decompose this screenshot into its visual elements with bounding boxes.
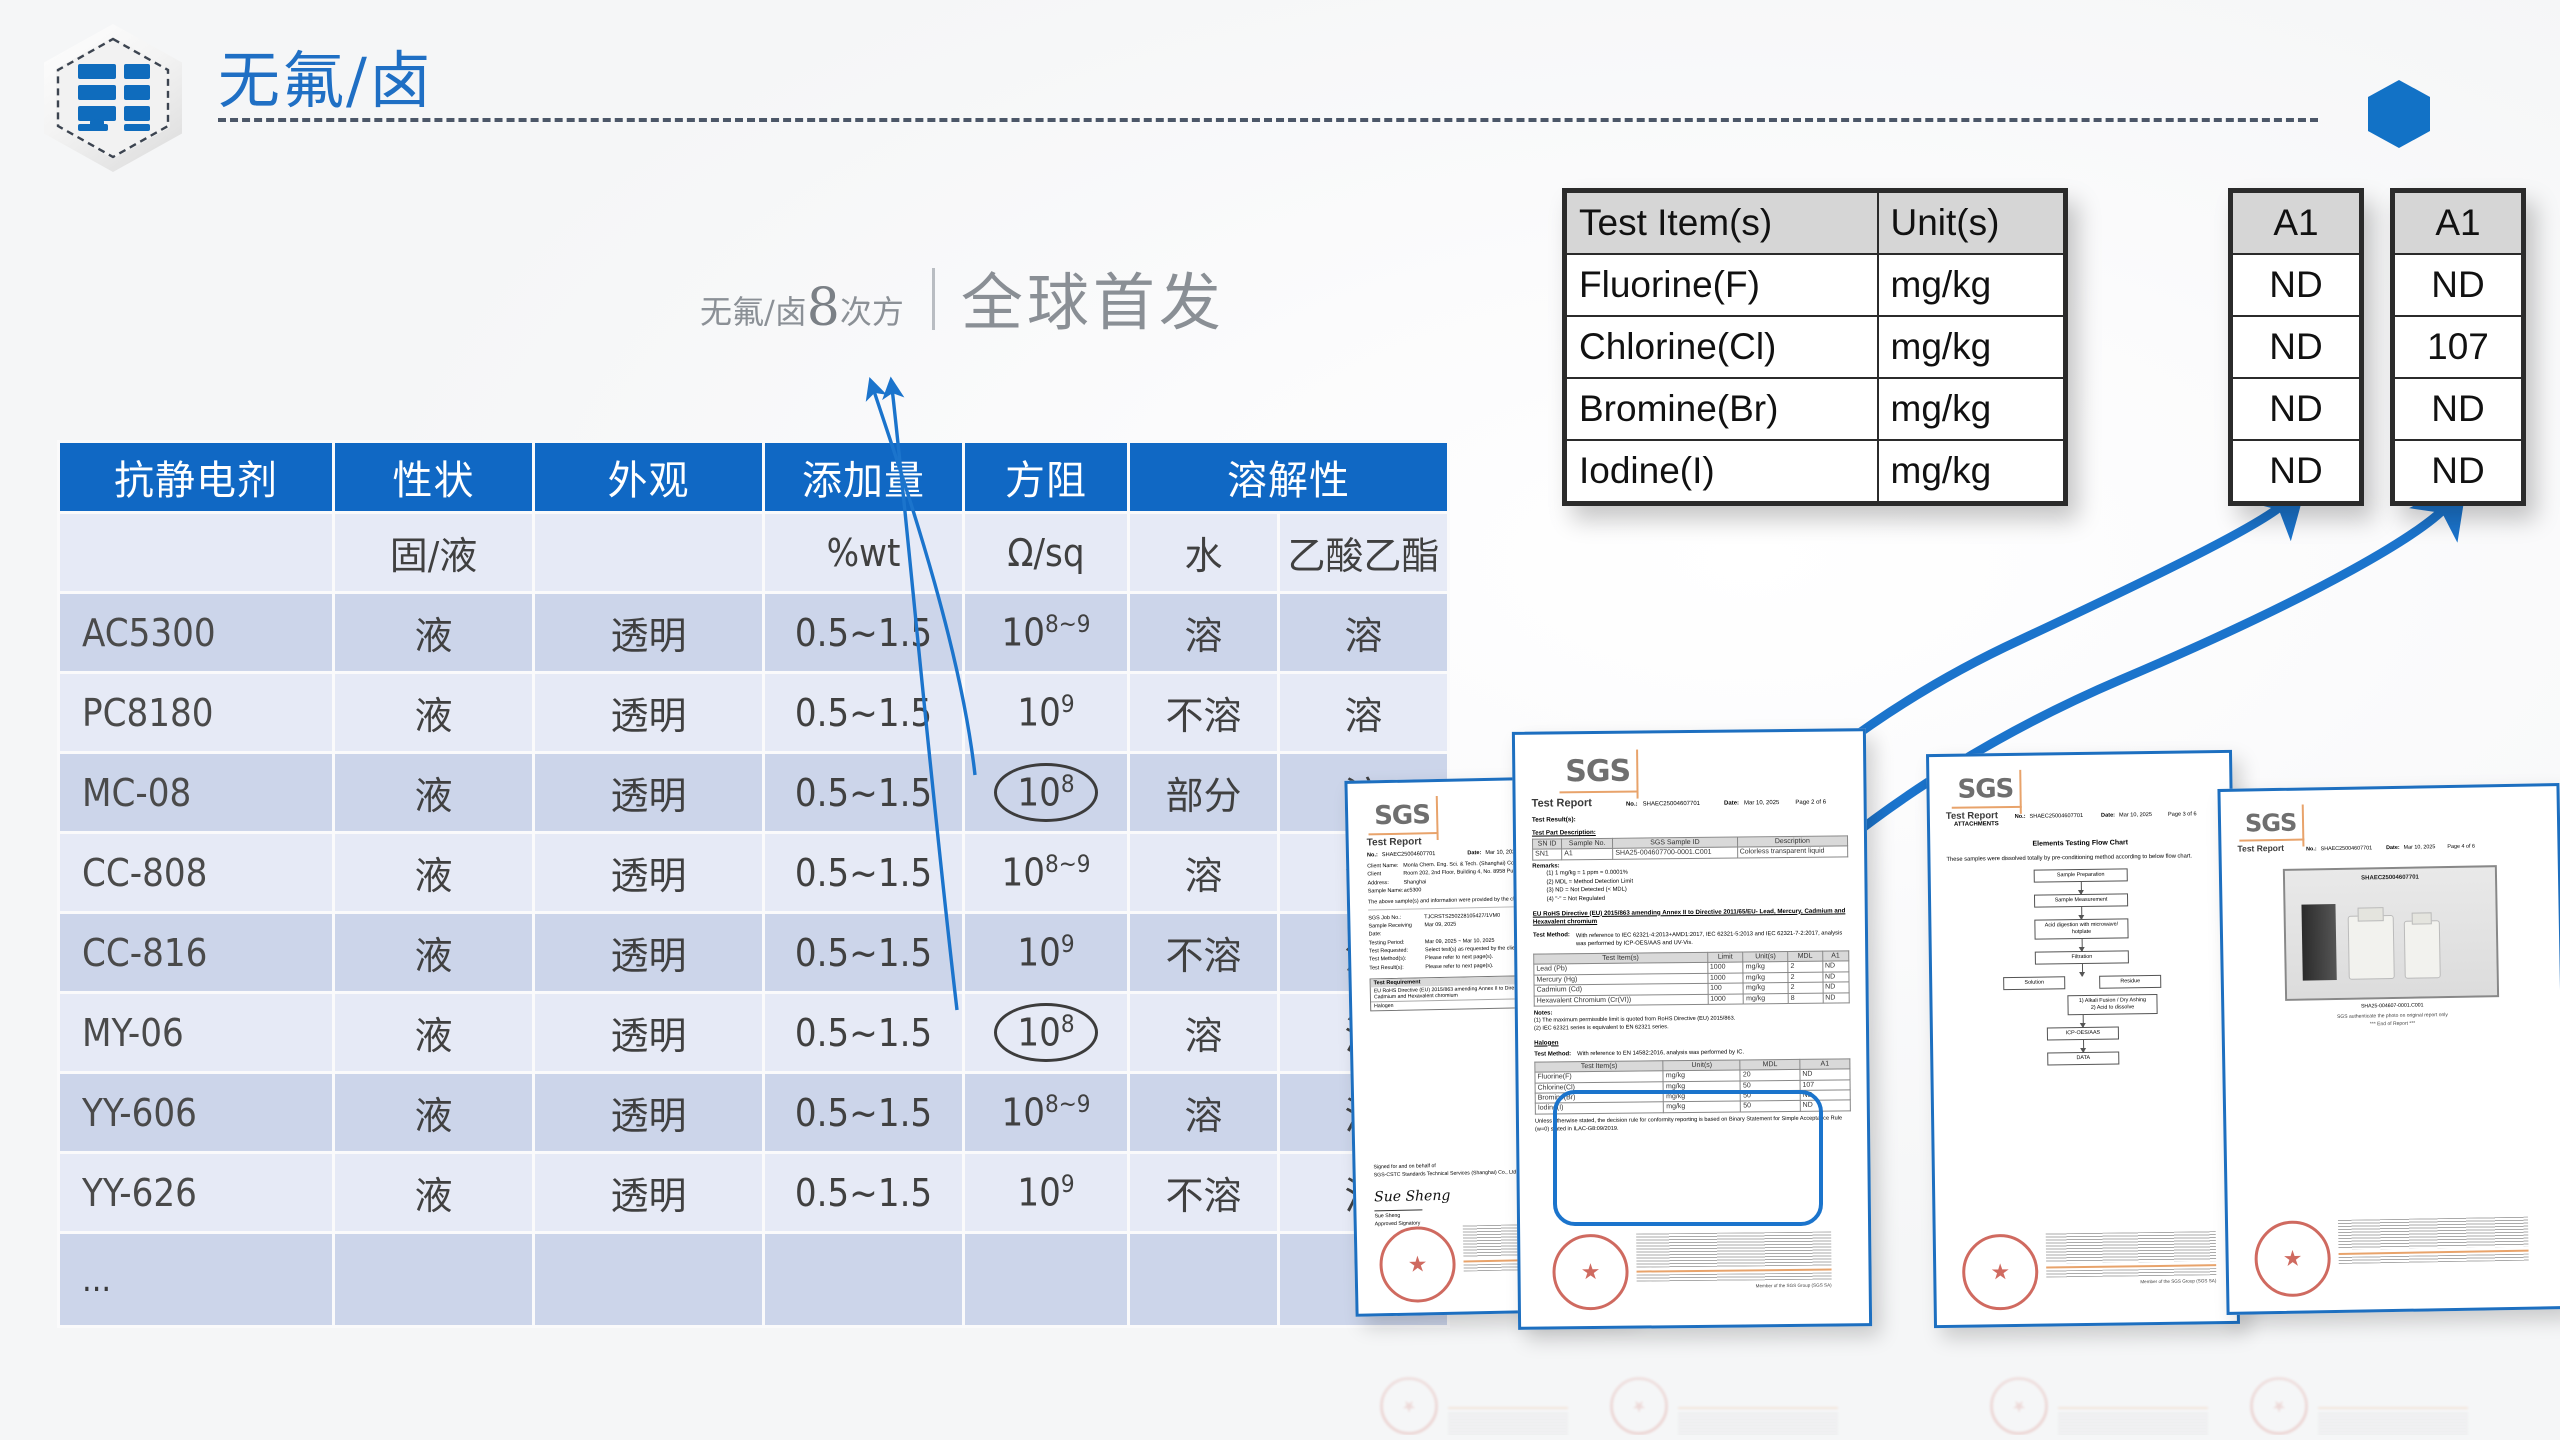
doc-field-value: ac5300 [1404,886,1422,895]
cell-resistance: 109 [964,1153,1129,1233]
cell-agent: MY-06 [59,993,334,1073]
flow-node: DATA [2047,1052,2119,1066]
flow-arrow-icon [2083,1040,2084,1052]
cell-water: 不溶 [1129,913,1279,993]
cell-ellipsis: ... [59,1233,334,1327]
a1-right-body: ND107NDND [2394,254,2522,502]
rack-glyph [78,64,150,130]
flow-node: 1) Alkali Fusion / Dry Ashing 2) Acid to… [2067,994,2157,1015]
flow-node: Sample Preparation [2034,868,2128,882]
cell-agent: PC8180 [59,673,334,753]
doc3-flow-intro: These samples were dissolved totally by … [1946,853,2214,863]
doc3-title: Test Report [1946,810,1999,822]
doc-table-cell: 1000 [1707,973,1743,984]
flow-node: Solution [2003,976,2065,990]
doc-table-cell: 2 [1788,972,1823,983]
doc-table-header: A1 [1800,1059,1850,1070]
doc-table-cell: 2 [1788,982,1823,993]
cell-unit: mg/kg [1878,378,2065,440]
doc-field-key: Sample Receiving Date: [1368,921,1424,939]
doc-table-header: Unit(s) [1743,951,1788,962]
a1-value-row: ND [2232,440,2360,502]
a1-value-row: 107 [2394,316,2522,378]
doc-table-cell: 1000 [1707,962,1743,973]
th-agent: 抗静电剂 [59,442,334,513]
cell-water: 溶 [1129,833,1279,913]
table-row: YY-606液透明0.5~1.5108~9溶溶 [59,1073,1449,1153]
a1-value-row: ND [2232,316,2360,378]
doc-field-value: Please refer to next page(s). [1425,962,1493,972]
table-unit-row: 固/液 %wt Ω/sq 水 乙酸乙酯 [59,513,1449,593]
unit-ethyl: 乙酸乙酯 [1279,513,1449,593]
th-form: 性状 [334,442,534,513]
doc4-title: Test Report [2237,843,2284,854]
a1-value-row: ND [2394,440,2522,502]
cell-form: 液 [334,593,534,673]
th-dosage: 添加量 [764,442,964,513]
doc-table-cell: 20 [1740,1070,1800,1081]
th-a1-left: A1 [2232,192,2360,254]
sgs-logo: SGS [1374,800,1430,831]
doc2-halogen-title: Halogen [1534,1036,1850,1046]
sgs-report-collage: SGS Test Report No.: SHAEC25004607701 Da… [1350,730,2560,1350]
doc2-part-table: SN IDSample No.SGS Sample IDDescription … [1532,835,1848,860]
doc3-subtitle: ATTACHMENTS [1954,821,1999,828]
doc4-date-value: Mar 10, 2025 [2404,844,2436,851]
a1-results-table-left: A1 NDNDNDND [2228,188,2364,506]
doc-field-key: Test Result(s): [1369,963,1425,973]
doc-table-cell: ND [1823,982,1850,993]
doc2-date-value: Mar 10, 2025 [1744,800,1779,806]
slide-canvas: 无氟/卤 无氟/卤8次方 全球首发 抗静电剂 性状 外观 添加量 方阻 溶解性 [0,0,2560,1440]
doc4-no-value: SHAEC25004607701 [2321,845,2373,852]
sgs-logo: SGS [1957,774,2013,805]
doc2-date-label: Date: [1724,800,1739,806]
doc4-no-label: No.: [2306,846,2317,852]
table-row: YY-626液透明0.5~1.5109不溶溶 [59,1153,1449,1233]
headline: 无氟/卤8次方 全球首发 [700,268,1225,334]
doc-table-cell: A1 [1562,849,1613,860]
doc1-signature-block: Signed for and on behalf of SGS-CSTC Sta… [1373,1161,1518,1229]
flow-node: Residue [2099,975,2161,989]
cell-form: 液 [334,1153,534,1233]
cell-a1-value: ND [2232,316,2360,378]
cell-test-item: Bromine(Br) [1566,378,1878,440]
cell-appearance: 透明 [534,913,764,993]
cell-agent: MC-08 [59,753,334,833]
doc-table-cell: mg/kg [1743,983,1788,994]
doc-table-header: A1 [1822,951,1849,962]
cell-dosage: 0.5~1.5 [764,833,964,913]
headline-main: 全球首发 [961,272,1225,334]
th-test-item: Test Item(s) [1566,192,1878,254]
collage-reflection: ★ ★ ★ ★ [1350,1285,2560,1435]
doc-table-cell: 8 [1788,993,1823,1004]
cell-unit: mg/kg [1878,254,2065,316]
headline-separator [932,268,935,330]
cell-resistance: 108~9 [964,833,1129,913]
doc1-no-value: SHAEC25004607701 [1382,851,1436,858]
cell-test-item: Chlorine(Cl) [1566,316,1878,378]
sgs-report-page-2[interactable]: SGS Test Report No.: SHAEC25004607701 Da… [1512,728,1872,1330]
page-title: 无氟/卤 [218,30,433,120]
doc-field-key: Sample Name: [1368,887,1404,896]
doc-table-cell: ND [1822,961,1849,972]
doc-table-cell: 1000 [1708,993,1744,1004]
cell-appearance: 透明 [534,753,764,833]
cell-ethyl: 溶 [1279,593,1449,673]
headline-subtext: 无氟/卤8次方 [700,282,904,334]
cell-test-item: Fluorine(F) [1566,254,1878,316]
test-item-row: Chlorine(Cl)mg/kg [1566,316,2064,378]
doc-table-header: SN ID [1533,839,1562,850]
cell-agent: AC5300 [59,593,334,673]
doc2-remarks: (1) 1 mg/kg = 1 ppm = 0.0001%(2) MDL = M… [1546,866,1848,904]
cell-a1-value: 107 [2394,316,2522,378]
doc2-halogen-method: With reference to EN 14582:2016, analysi… [1577,1049,1744,1057]
doc2-title: Test Report [1532,797,1592,810]
doc-table-cell: SN1 [1533,849,1562,860]
a1-value-row: ND [2394,254,2522,316]
flow-arrow-icon [2081,939,2082,951]
doc2-rohs-title: EU RoHS Directive (EU) 2015/863 amending… [1533,907,1849,928]
table-row: CC-816液透明0.5~1.5109不溶溶 [59,913,1449,993]
cell-water: 不溶 [1129,1153,1279,1233]
doc-table-header: Sample No. [1562,838,1613,849]
flow-arrow-icon [2082,1015,2083,1027]
doc-table-cell: 107 [1800,1079,1850,1090]
flow-node: Sample Measurement [2034,893,2128,907]
unit-resistance: Ω/sq [964,513,1129,593]
headline-prefix: 无氟/卤 [700,293,807,331]
doc-table-cell: ND [1800,1069,1850,1080]
doc-field-value: TJCRSTS250228105427/1VM0 [1424,911,1500,921]
cell-form: 液 [334,993,534,1073]
doc4-photo-subcaption: SHA25-004607-0001.C001 [2240,1000,2544,1011]
server-rack-icon [38,18,188,178]
doc-table-cell: Colorless transparent liquid [1737,846,1848,858]
doc1-date-label: Date: [1467,850,1481,856]
headline-power: 8 [807,278,840,338]
doc2-no-value: SHAEC25004607701 [1643,801,1700,808]
flow-node: Filtration [2035,950,2129,964]
doc1-no-label: No.: [1367,852,1378,858]
test-item-row: Fluorine(F)mg/kg [1566,254,2064,316]
antistatic-agents-table: 抗静电剂 性状 外观 添加量 方阻 溶解性 固/液 %wt Ω/sq 水 乙酸乙… [57,440,1450,1328]
a1-left-body: NDNDNDND [2232,254,2360,502]
table-row: PC8180液透明0.5~1.5109不溶溶 [59,673,1449,753]
doc-table-cell: ND [1823,992,1850,1003]
cell-appearance: 透明 [534,1073,764,1153]
cell-a1-value: ND [2394,378,2522,440]
cell-water: 溶 [1129,993,1279,1073]
doc3-no-label: No.: [2015,814,2026,820]
cell-agent: CC-816 [59,913,334,993]
cell-test-item: Iodine(I) [1566,440,1878,502]
cell-appearance: 透明 [534,1153,764,1233]
cell-form: 液 [334,753,534,833]
cell-form: 液 [334,913,534,993]
doc3-date-value: Mar 10, 2025 [2119,812,2152,818]
doc2-results-label: Test Result(s): [1532,813,1848,823]
cell-water: 部分 [1129,753,1279,833]
doc-table-header: MDL [1788,951,1823,962]
doc-table-cell: mg/kg [1743,972,1788,983]
doc3-page: Page 3 of 6 [2168,811,2197,817]
test-items-table: Test Item(s) Unit(s) Fluorine(F)mg/kgChl… [1562,188,2068,506]
cell-water: 溶 [1129,593,1279,673]
cell-dosage: 0.5~1.5 [764,753,964,833]
table-row: MC-08液透明0.5~1.5108部分溶 [59,753,1449,833]
doc2-remark: (4) "-" = Not Regulated [1547,892,1849,904]
doc3-flow-title: Elements Testing Flow Chart [1946,838,2214,849]
cell-form: 液 [334,833,534,913]
a1-value-row: ND [2232,378,2360,440]
doc-table-cell: 2 [1788,961,1823,972]
cell-a1-value: ND [2232,378,2360,440]
halogen-highlight-box [1553,1090,1823,1226]
doc2-rohs-table: Test Item(s)LimitUnit(s)MDLA1 Lead (Pb)1… [1533,950,1850,1006]
table-row-ellipsis: ... [59,1233,1449,1327]
a1-results-table-right: A1 ND107NDND [2390,188,2526,506]
cell-a1-value: ND [2394,440,2522,502]
cell-dosage: 0.5~1.5 [764,1073,964,1153]
doc4-photo-caption: SHAEC25004607701 [2361,875,2419,882]
flow-arrow-icon [2081,907,2082,919]
doc2-halogen-method-label: Test Method: [1534,1051,1571,1057]
doc2-method-label: Test Method: [1533,932,1570,949]
doc-table-cell: mg/kg [1743,962,1788,973]
flow-node: Acid digestion with microwave/ hotplate [2034,918,2128,939]
cell-a1-value: ND [2232,254,2360,316]
cell-a1-value: ND [2394,254,2522,316]
cell-resistance: 108 [964,753,1129,833]
doc1-signature-script: Sue Sheng [1374,1185,1518,1209]
unit-agent [59,513,334,593]
th-solubility: 溶解性 [1129,442,1449,513]
cell-resistance: 109 [964,673,1129,753]
a1-value-row: ND [2232,254,2360,316]
doc3-no-value: SHAEC25004607701 [2030,813,2084,820]
th-a1-right: A1 [2394,192,2522,254]
th-resistance: 方阻 [964,442,1129,513]
cell-form: 液 [334,673,534,753]
cell-dosage: 0.5~1.5 [764,1153,964,1233]
doc2-page: Page 2 of 6 [1795,800,1826,806]
sgs-report-page-3[interactable]: SGS Test Report ATTACHMENTS No.: SHAEC25… [1926,750,2240,1328]
doc-field-key: Client Address: [1367,870,1403,888]
doc4-date-label: Date: [2386,845,2400,851]
flow-node: ICP-OES/AAS [2047,1027,2119,1041]
cell-unit: mg/kg [1878,316,2065,378]
sgs-logo: SGS [2245,809,2297,838]
doc-table-cell: ND [1822,971,1849,982]
cell-dosage: 0.5~1.5 [764,993,964,1073]
test-item-row: Bromine(Br)mg/kg [1566,378,2064,440]
doc2-notes: (1) The maximum permissible limit is quo… [1534,1013,1850,1033]
flow-arrow-icon [2080,882,2081,894]
header-divider [218,118,2318,122]
unit-water: 水 [1129,513,1279,593]
hexagon-badge [2368,80,2430,148]
flow-arrow-icon [2081,964,2082,976]
headline-suffix: 次方 [840,293,904,331]
test-item-row: Iodine(I)mg/kg [1566,440,2064,502]
sample-photo: SHAEC25004607701 [2283,865,2499,1001]
th-appearance: 外观 [534,442,764,513]
cell-agent: YY-626 [59,1153,334,1233]
cell-agent: YY-606 [59,1073,334,1153]
table-row: MY-06液透明0.5~1.5108溶溶 [59,993,1449,1073]
cell-resistance: 108~9 [964,593,1129,673]
cell-resistance: 108 [964,993,1129,1073]
test-items-header-row: Test Item(s) Unit(s) [1566,192,2064,254]
table-header-row: 抗静电剂 性状 外观 添加量 方阻 溶解性 [59,442,1449,513]
sgs-logo: SGS [1565,754,1630,790]
doc3-flow-chart: Sample PreparationSample MeasurementAcid… [1947,867,2218,1067]
doc2-no-label: No.: [1626,802,1638,808]
table-body: 固/液 %wt Ω/sq 水 乙酸乙酯 AC5300液透明0.5~1.5108~… [59,513,1449,1327]
cell-unit: mg/kg [1878,440,2065,502]
unit-appearance [534,513,764,593]
sgs-report-page-4[interactable]: SGS Test Report No.: SHAEC25004607701 Da… [2217,783,2560,1315]
cell-form: 液 [334,1073,534,1153]
cell-a1-value: ND [2232,440,2360,502]
table-row: AC5300液透明0.5~1.5108~9溶溶 [59,593,1449,673]
doc3-date-label: Date: [2101,813,2115,819]
table-row: CC-808液透明0.5~1.5108~9溶溶 [59,833,1449,913]
doc4-page: Page 4 of 6 [2447,844,2475,850]
cell-water: 不溶 [1129,673,1279,753]
cell-appearance: 透明 [534,993,764,1073]
doc-table-cell: mg/kg [1744,993,1789,1004]
doc-table-cell: Hexavalent Chromium (Cr(VI)) [1534,994,1708,1006]
unit-form: 固/液 [334,513,534,593]
doc-field-value: Mar 09, 2025 [1424,920,1456,937]
cell-agent: CC-808 [59,833,334,913]
doc-table-header: MDL [1740,1059,1800,1070]
doc2-method-text: With reference to IEC 62321-4:2013+AMD1:… [1576,929,1849,949]
cell-resistance: 109 [964,913,1129,993]
cell-dosage: 0.5~1.5 [764,673,964,753]
cell-resistance: 108~9 [964,1073,1129,1153]
th-unit: Unit(s) [1878,192,2065,254]
cell-appearance: 透明 [534,593,764,673]
a1-value-row: ND [2394,378,2522,440]
cell-dosage: 0.5~1.5 [764,913,964,993]
test-items-body: Fluorine(F)mg/kgChlorine(Cl)mg/kgBromine… [1566,254,2064,502]
cell-appearance: 透明 [534,833,764,913]
cell-dosage: 0.5~1.5 [764,593,964,673]
doc-table-header: Limit [1707,952,1743,963]
cell-water: 溶 [1129,1073,1279,1153]
doc-table-cell: SHA25-004607700-0001.C001 [1613,847,1737,859]
cell-appearance: 透明 [534,673,764,753]
doc-table-cell: 100 [1708,983,1744,994]
unit-dosage: %wt [764,513,964,593]
